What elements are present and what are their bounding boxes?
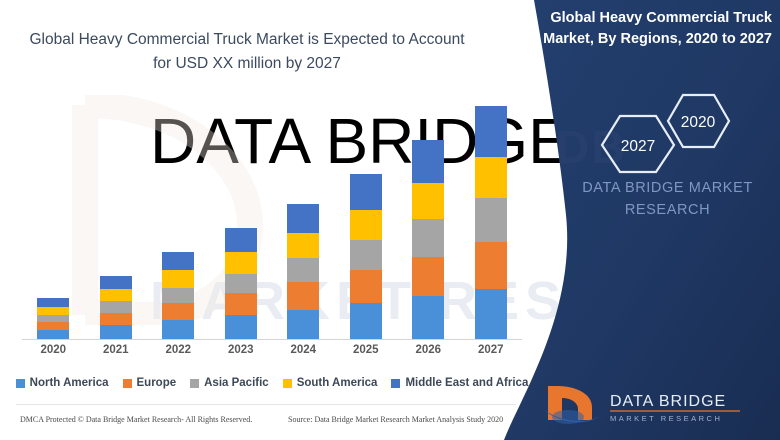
logo-tagline-text: MARKET RESEARCH [610, 414, 722, 423]
bar-2027 [475, 106, 507, 339]
x-axis-line [22, 339, 522, 340]
bar-segment [162, 320, 194, 339]
hexagon-2027-label: 2027 [621, 138, 655, 155]
legend-item[interactable]: Asia Pacific [190, 377, 269, 389]
legend-label: Middle East and Africa [405, 377, 528, 389]
legend-swatch-icon [391, 379, 400, 388]
x-axis-label-2027: 2027 [461, 344, 521, 356]
hexagon-badges: 2020 2027 [588, 92, 768, 174]
bar-segment [225, 274, 257, 293]
legend-label: North America [30, 377, 109, 389]
logo-name-text: DATA BRIDGE [610, 393, 726, 410]
bar-2021 [100, 276, 132, 339]
x-axis-label-2026: 2026 [398, 344, 458, 356]
bar-segment [100, 301, 132, 313]
bar-segment [37, 330, 69, 339]
bar-2026 [412, 140, 444, 339]
x-axis-label-2024: 2024 [273, 344, 333, 356]
bar-segment [412, 183, 444, 219]
legend-swatch-icon [123, 379, 132, 388]
legend-label: Asia Pacific [204, 377, 269, 389]
bar-segment [37, 315, 69, 322]
bar-segment [475, 157, 507, 197]
bar-segment [162, 252, 194, 271]
bar-segment [350, 240, 382, 271]
panel-title: Global Heavy Commercial Truck Market, By… [540, 8, 772, 50]
legend-swatch-icon [190, 379, 199, 388]
bar-segment [475, 242, 507, 289]
x-axis-labels: 20202021202220232024202520262027 [22, 344, 522, 362]
bar-segment [412, 257, 444, 296]
bar-segment [412, 140, 444, 183]
legend-swatch-icon [283, 379, 292, 388]
bar-segment [475, 198, 507, 243]
footer-copyright: DMCA Protected © Data Bridge Market Rese… [20, 415, 252, 424]
bar-2020 [37, 298, 69, 339]
panel-brand-text: DATA BRIDGE MARKET RESEARCH [560, 178, 775, 222]
bar-segment [37, 307, 69, 315]
bar-2022 [162, 252, 194, 339]
hexagon-2020-label: 2020 [681, 114, 716, 131]
bar-segment [412, 296, 444, 339]
stacked-bar-chart: 20202021202220232024202520262027 [22, 100, 522, 360]
bar-segment [100, 313, 132, 325]
data-bridge-logo: DATA BRIDGE MARKET RESEARCH [540, 380, 750, 426]
x-axis-label-2020: 2020 [23, 344, 83, 356]
bar-segment [350, 210, 382, 239]
bar-2023 [225, 228, 257, 339]
footer-divider [16, 404, 516, 405]
bar-segment [37, 298, 69, 307]
x-axis-label-2022: 2022 [148, 344, 208, 356]
legend-item[interactable]: Middle East and Africa [391, 377, 528, 389]
bar-segment [225, 293, 257, 315]
bar-segment [100, 325, 132, 339]
bar-segment [287, 233, 319, 259]
x-axis-label-2025: 2025 [336, 344, 396, 356]
chart-legend: North AmericaEuropeAsia PacificSouth Ame… [22, 374, 522, 392]
bar-segment [287, 282, 319, 309]
bar-segment [350, 270, 382, 303]
bar-segment [100, 289, 132, 301]
bar-segment [162, 303, 194, 320]
infographic-canvas: DATA BRIDGE MARKET RESEARCH DB Global He… [0, 0, 780, 440]
legend-label: South America [297, 377, 378, 389]
x-axis-label-2023: 2023 [211, 344, 271, 356]
bar-segment [287, 204, 319, 233]
bar-segment [225, 252, 257, 274]
bar-segment [475, 106, 507, 157]
legend-item[interactable]: Europe [123, 377, 177, 389]
legend-item[interactable]: South America [283, 377, 378, 389]
bar-segment [350, 303, 382, 339]
footer-source: Source: Data Bridge Market Research Mark… [288, 415, 503, 424]
legend-swatch-icon [16, 379, 25, 388]
bar-2025 [350, 174, 382, 339]
bar-segment [350, 174, 382, 210]
bar-segment [100, 276, 132, 290]
bar-2024 [287, 204, 319, 339]
chart-plot-area [22, 100, 522, 340]
bar-segment [287, 258, 319, 282]
x-axis-label-2021: 2021 [86, 344, 146, 356]
bar-segment [162, 270, 194, 287]
bar-segment [225, 315, 257, 339]
bar-segment [225, 228, 257, 252]
bar-segment [475, 289, 507, 339]
bar-segment [37, 322, 69, 331]
legend-label: Europe [137, 377, 177, 389]
bar-segment [412, 219, 444, 257]
page-title: Global Heavy Commercial Truck Market is … [22, 28, 472, 76]
bar-segment [287, 310, 319, 339]
legend-item[interactable]: North America [16, 377, 109, 389]
bar-segment [162, 288, 194, 303]
